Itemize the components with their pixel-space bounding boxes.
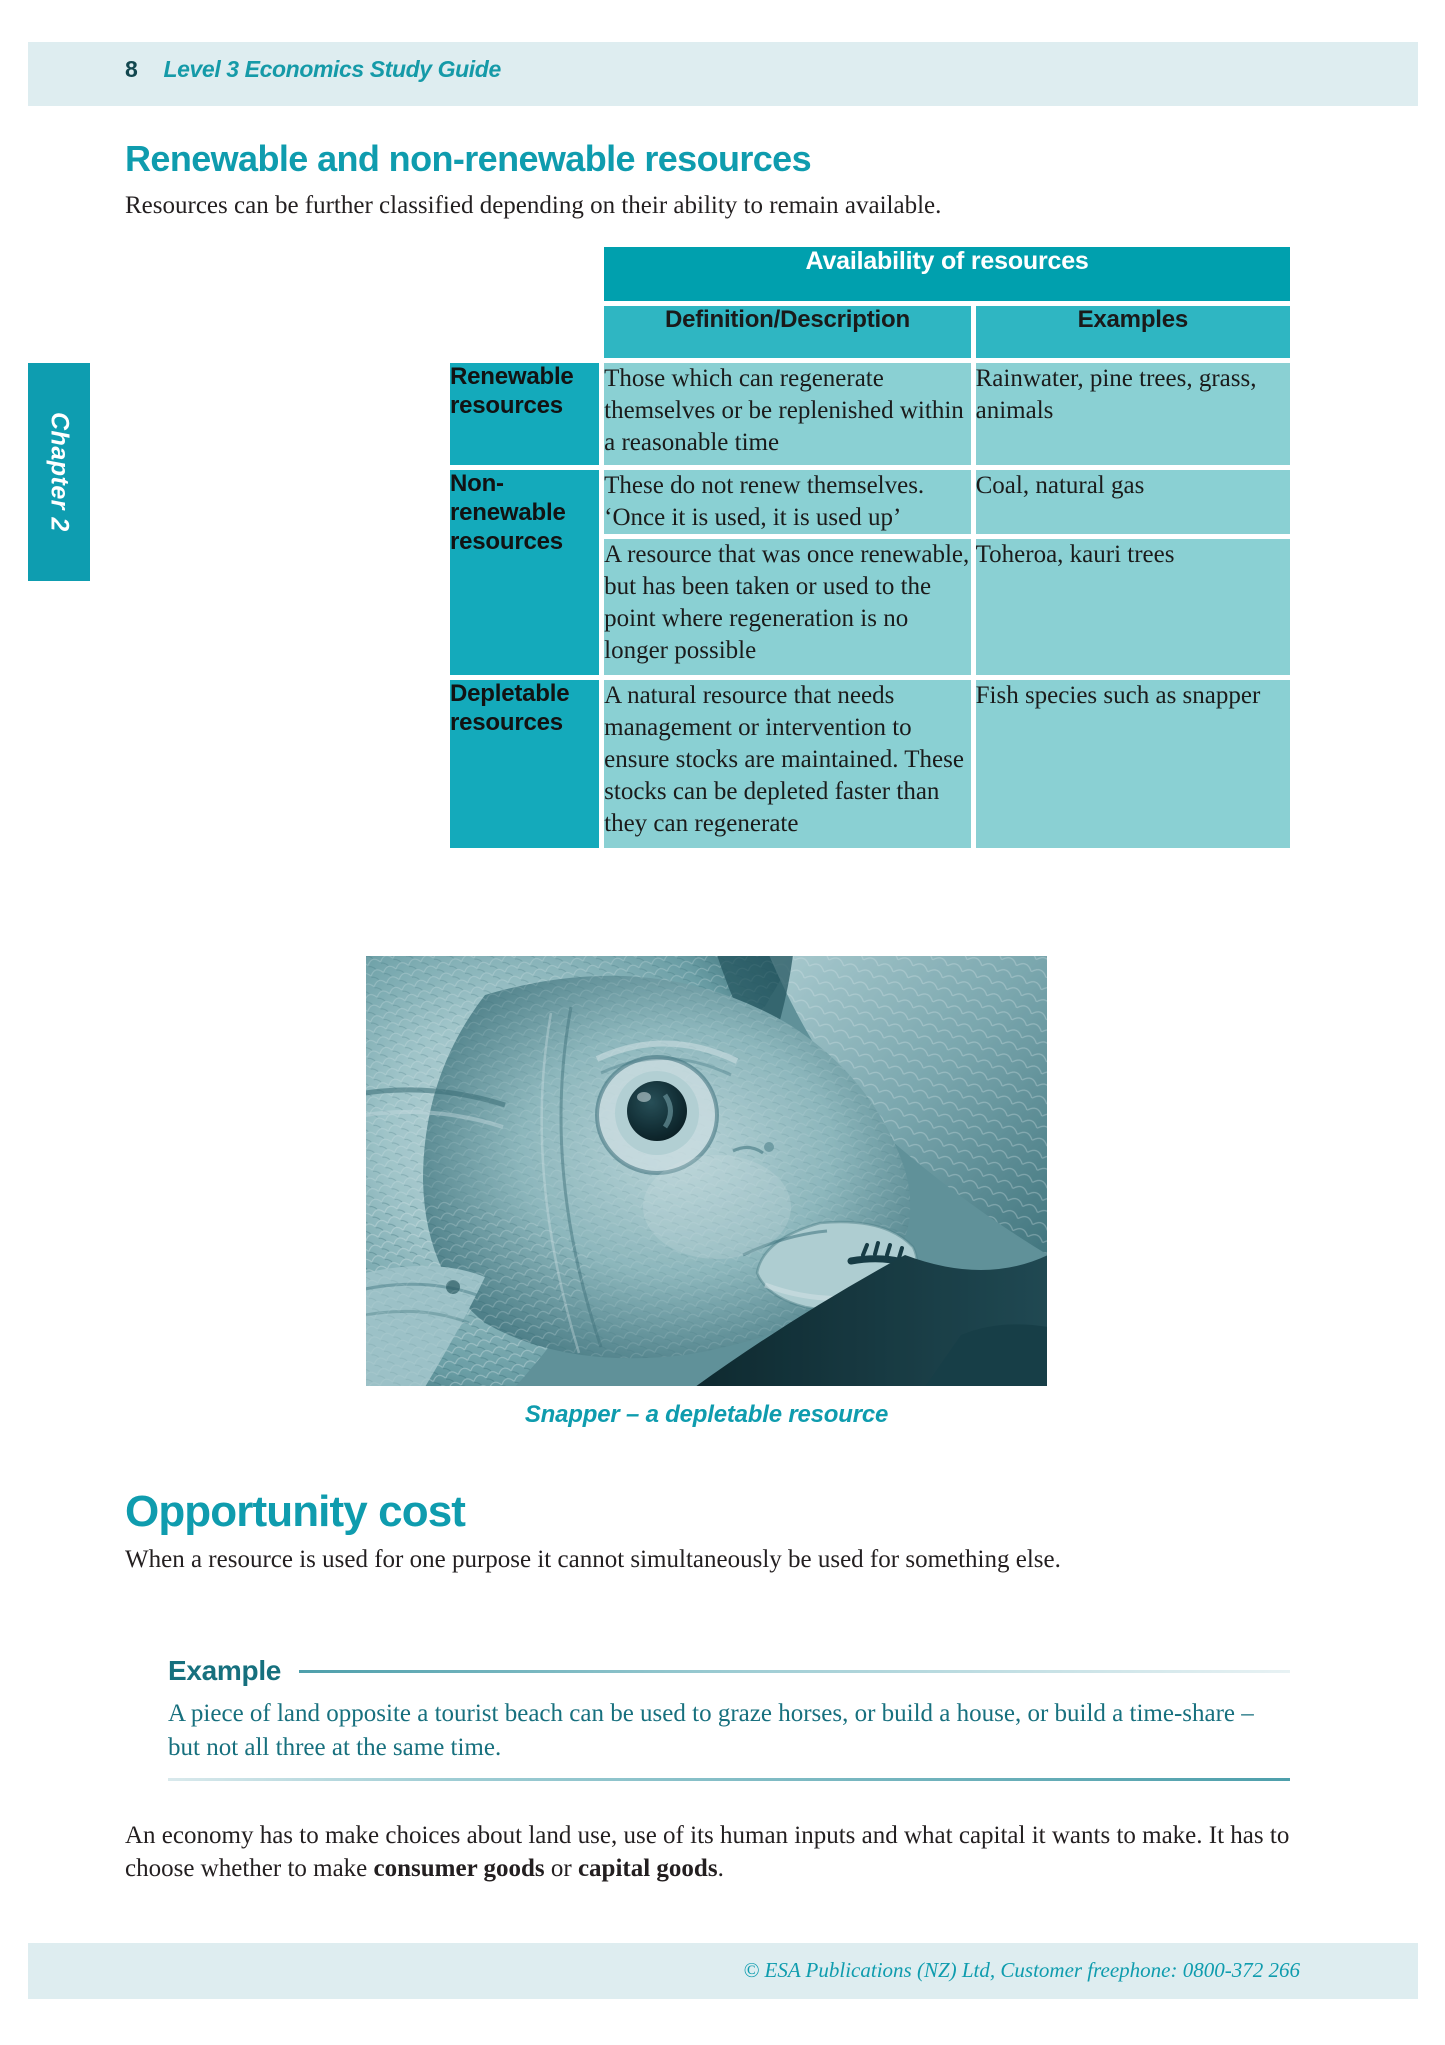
footer-copyright: © ESA Publications (NZ) Ltd, Customer fr… xyxy=(28,1958,1300,1983)
table-top-header: Availability of resources xyxy=(604,247,1290,301)
figure-caption: Snapper – a depletable resource xyxy=(365,1401,1048,1429)
header-title: Level 3 Economics Study Guide xyxy=(164,56,501,83)
spacer-cell xyxy=(450,306,599,358)
example-top-rule xyxy=(299,1670,1290,1673)
page-title: Renewable and non-renewable resources xyxy=(125,140,811,178)
chapter-tab-label: Chapter 2 xyxy=(45,412,74,532)
page-number: 8 xyxy=(125,56,138,83)
figure: Snapper – a depletable resource xyxy=(365,955,1048,1429)
closing-bold-capital-goods: capital goods xyxy=(578,1855,718,1882)
example-bottom-rule xyxy=(168,1778,1290,1781)
cell-examples-renewable: Rainwater, pine trees, grass, animals xyxy=(976,363,1290,465)
example-box-header: Example xyxy=(168,1655,1290,1687)
row-label-non-renewable: Non-renewable resources xyxy=(450,470,599,675)
column-header-definition: Definition/Description xyxy=(604,306,971,358)
closing-part-2: or xyxy=(545,1855,578,1882)
example-label: Example xyxy=(168,1655,281,1687)
cell-definition-renewable: Those which can regenerate themselves or… xyxy=(604,363,971,465)
cell-examples-depletable: Fish species such as snapper xyxy=(976,680,1290,848)
cell-definition-non-renewable-1: These do not renew themselves. ‘Once it … xyxy=(604,470,971,534)
example-box: Example A piece of land opposite a touri… xyxy=(168,1655,1290,1781)
closing-part-3: . xyxy=(718,1855,724,1882)
table-row: Renewable resources Those which can rege… xyxy=(450,363,1290,465)
closing-paragraph: An economy has to make choices about lan… xyxy=(125,1819,1290,1885)
row-label-depletable: Depletable resources xyxy=(450,680,599,848)
chapter-tab: Chapter 2 xyxy=(28,363,90,581)
row-label-renewable: Renewable resources xyxy=(450,363,599,465)
cell-examples-non-renewable-2: Toheroa, kauri trees xyxy=(976,539,1290,675)
snapper-fish-photo xyxy=(365,955,1048,1387)
running-header: 8 Level 3 Economics Study Guide xyxy=(125,56,501,83)
table-top-header-row: Availability of resources xyxy=(450,247,1290,301)
example-text: A piece of land opposite a tourist beach… xyxy=(168,1697,1290,1764)
opportunity-cost-heading: Opportunity cost xyxy=(125,1487,465,1537)
table-row: Non-renewable resources These do not ren… xyxy=(450,470,1290,534)
cell-examples-non-renewable-1: Coal, natural gas xyxy=(976,470,1290,534)
cell-definition-non-renewable-2: A resource that was once renewable, but … xyxy=(604,539,971,675)
cell-definition-depletable: A natural resource that needs management… xyxy=(604,680,971,848)
table-row: Depletable resources A natural resource … xyxy=(450,680,1290,848)
lead-paragraph: Resources can be further classified depe… xyxy=(125,190,1290,223)
column-header-examples: Examples xyxy=(976,306,1290,358)
opportunity-cost-paragraph: When a resource is used for one purpose … xyxy=(125,1543,1290,1576)
document-page: 8 Level 3 Economics Study Guide Chapter … xyxy=(0,0,1445,2045)
table-column-header-row: Definition/Description Examples xyxy=(450,306,1290,358)
spacer-cell xyxy=(450,247,599,301)
closing-bold-consumer-goods: consumer goods xyxy=(374,1855,545,1882)
availability-of-resources-table: Availability of resources Definition/Des… xyxy=(450,247,1290,848)
